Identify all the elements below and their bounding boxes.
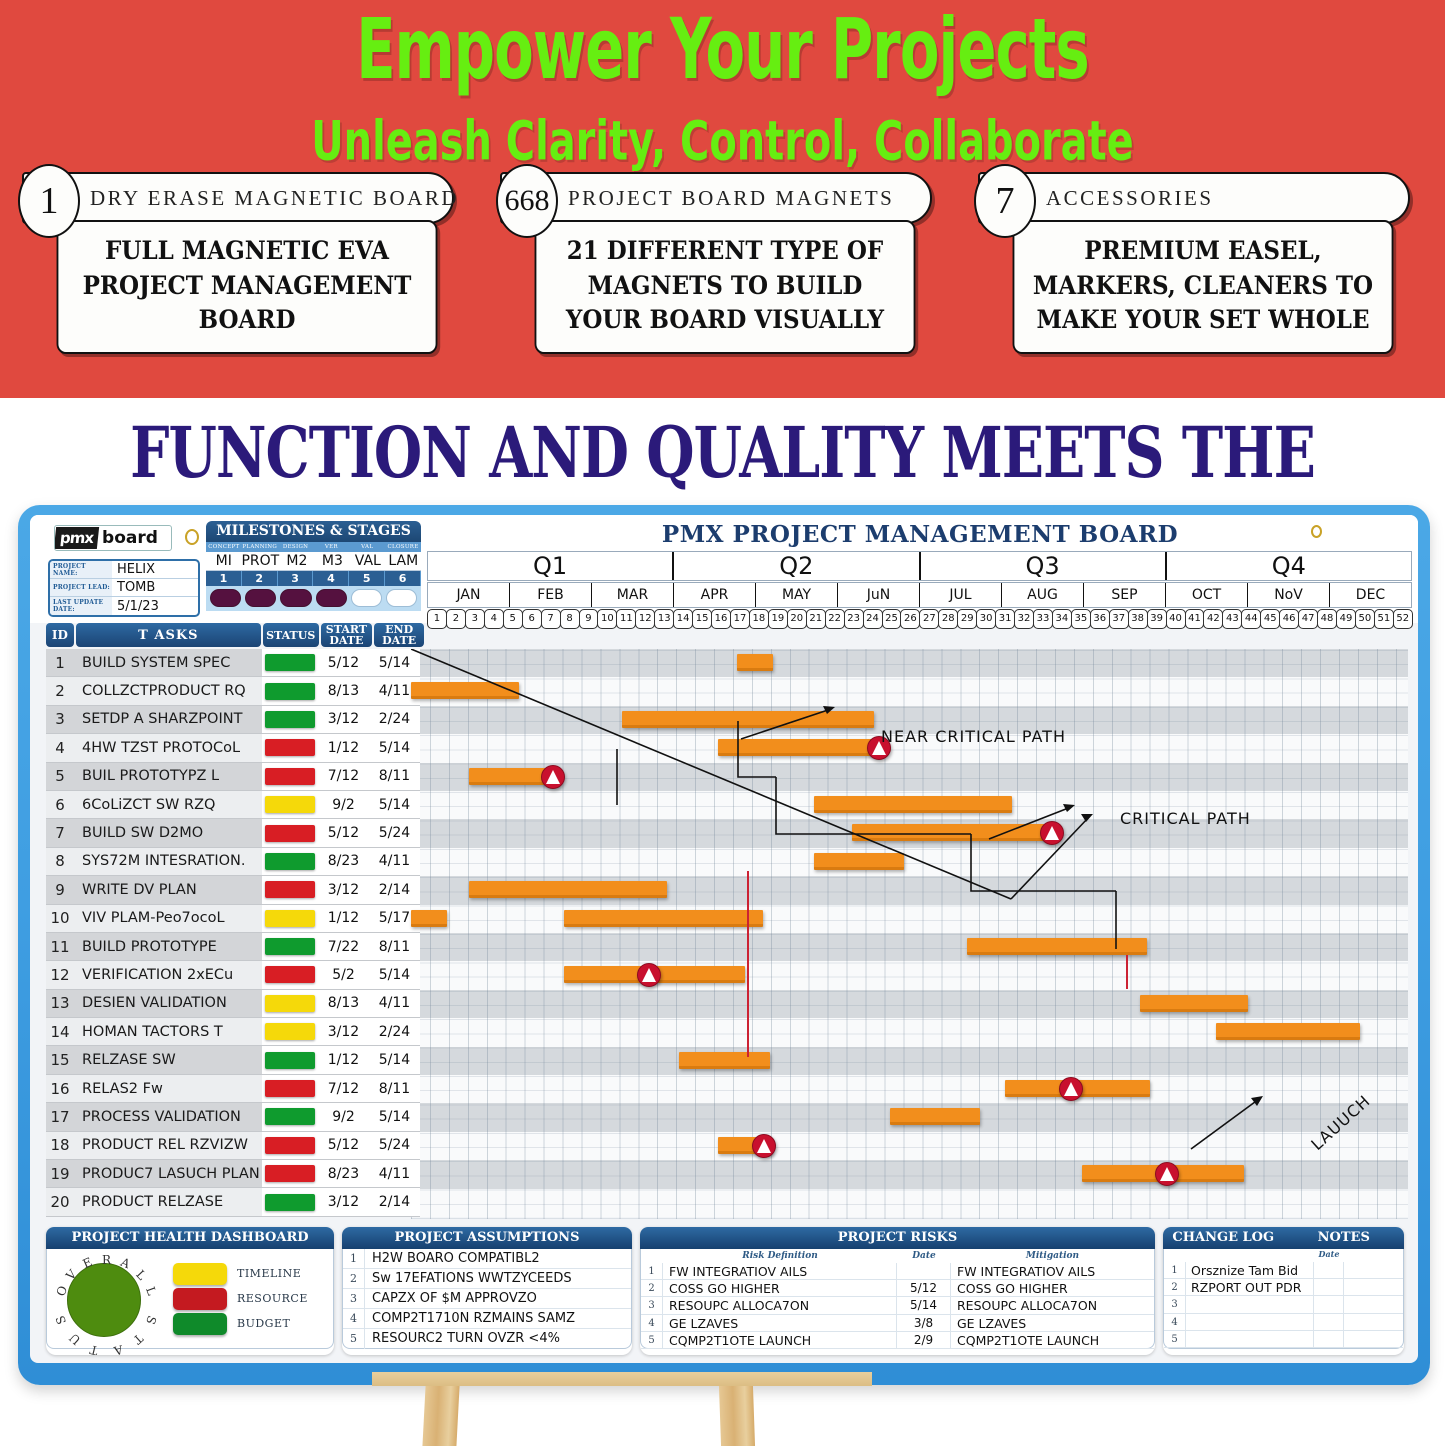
milestone-magnet-5[interactable] bbox=[351, 589, 382, 607]
col-header-id: ID bbox=[46, 623, 74, 647]
assumption-row[interactable]: 3CAPZX OF $M APPROVZO bbox=[343, 1289, 631, 1309]
notes-cell[interactable] bbox=[1344, 1296, 1403, 1312]
row-start-date: 3/12 bbox=[318, 706, 369, 734]
milestone-number-3: 4 bbox=[313, 571, 349, 586]
project-name-row: PROJECT NAME: HELIX bbox=[50, 561, 198, 579]
risk-num: 2 bbox=[641, 1280, 663, 1296]
legend-label: TIMELINE bbox=[227, 1267, 301, 1280]
feature-card-1: 1 DRY ERASE MAGNETIC BOARD FULL MAGNETIC… bbox=[22, 172, 454, 354]
month-cell-APR: APR bbox=[674, 583, 756, 607]
legend-row: RESOURCE bbox=[173, 1288, 333, 1310]
assumption-num: 3 bbox=[343, 1289, 365, 1308]
week-cell-36: 36 bbox=[1090, 609, 1110, 629]
milestone-stage-3: VER bbox=[313, 542, 349, 552]
assumption-row[interactable]: 2Sw 17EFATIONS WWTZYCEEDS bbox=[343, 1269, 631, 1289]
row-id: 9 bbox=[46, 876, 74, 904]
legend-label: RESOURCE bbox=[227, 1292, 308, 1305]
status-chip[interactable] bbox=[265, 995, 315, 1012]
assumptions-body: 1H2W BOARO COMPATIBL22Sw 17EFATIONS WWTZ… bbox=[342, 1249, 632, 1349]
risk-num: 1 bbox=[641, 1263, 663, 1279]
changelog-row[interactable]: 1Orsznize Tam Bid bbox=[1164, 1262, 1403, 1279]
week-cell-4: 4 bbox=[484, 609, 504, 629]
week-header-row: 1234567891011121314151617181920212223242… bbox=[427, 609, 1412, 629]
pmx-board-logo: pmx board bbox=[54, 525, 172, 551]
row-task-name: SETDP A SHARZPOINT bbox=[74, 706, 262, 734]
month-header-row: JANFEBMARAPRMAYJuNJULAUGSEPOCTNoVDEC bbox=[427, 582, 1412, 608]
col-header-start: START DATE bbox=[321, 623, 373, 647]
week-cell-38: 38 bbox=[1128, 609, 1148, 629]
banner-subtitle: Unleash Clarity, Control, Collaborate bbox=[36, 114, 1409, 169]
risk-date bbox=[897, 1263, 951, 1279]
week-cell-33: 33 bbox=[1033, 609, 1053, 629]
status-chip[interactable] bbox=[265, 853, 315, 870]
col-header-end: END DATE bbox=[374, 623, 424, 647]
risks-body: Risk Definition Date Mitigation 1FW INTE… bbox=[640, 1249, 1155, 1349]
changelog-date bbox=[1314, 1314, 1344, 1330]
legend-chip[interactable] bbox=[173, 1263, 227, 1285]
risk-definition: COSS GO HIGHER bbox=[663, 1280, 897, 1296]
row-status[interactable] bbox=[262, 848, 318, 876]
risks-title: PROJECT RISKS bbox=[640, 1227, 1155, 1249]
row-task-name: DESIEN VALIDATION bbox=[74, 990, 262, 1018]
status-chip[interactable] bbox=[265, 796, 315, 813]
row-id: 6 bbox=[46, 791, 74, 819]
week-cell-41: 41 bbox=[1185, 609, 1205, 629]
risk-definition: RESOUPC ALLOCA7ON bbox=[663, 1297, 897, 1313]
banner-title: Empower Your Projects bbox=[51, 8, 1395, 92]
status-chip[interactable] bbox=[265, 966, 315, 983]
risks-num-col bbox=[641, 1249, 663, 1263]
week-cell-2: 2 bbox=[446, 609, 466, 629]
board-title: PMX PROJECT MANAGEMENT BOARD bbox=[430, 521, 1410, 548]
quarter-header-row: Q1Q2Q3Q4 bbox=[427, 551, 1412, 581]
milestone-name-3: M3 bbox=[315, 552, 350, 570]
row-status[interactable] bbox=[262, 1075, 318, 1103]
week-cell-31: 31 bbox=[995, 609, 1015, 629]
project-info-panel: PROJECT NAME: HELIX PROJECT LEAD: TOMB L… bbox=[48, 559, 200, 617]
week-cell-7: 7 bbox=[541, 609, 561, 629]
overall-status-gauge: OVERALL STATUS bbox=[47, 1249, 169, 1349]
status-chip[interactable] bbox=[265, 1165, 315, 1182]
milestone-magnet-1[interactable] bbox=[210, 589, 241, 607]
changelog-date-col: Date bbox=[1314, 1249, 1344, 1262]
row-status[interactable] bbox=[262, 649, 318, 677]
status-chip[interactable] bbox=[265, 1108, 315, 1125]
row-status[interactable] bbox=[262, 876, 318, 904]
week-cell-46: 46 bbox=[1279, 609, 1299, 629]
row-start-date: 5/12 bbox=[318, 819, 369, 847]
assumption-text: H2W BOARO COMPATIBL2 bbox=[365, 1249, 631, 1268]
row-status[interactable] bbox=[262, 819, 318, 847]
arc-letter: T bbox=[89, 1342, 100, 1355]
status-chip[interactable] bbox=[265, 1023, 315, 1040]
project-lead-row: PROJECT LEAD: TOMB bbox=[50, 579, 198, 597]
feature-1-count: 1 bbox=[18, 164, 80, 238]
status-chip[interactable] bbox=[265, 768, 315, 785]
row-task-name: PROCESS VALIDATION bbox=[74, 1103, 262, 1131]
row-task-name: 4HW TZST PROTOCoL bbox=[74, 734, 262, 762]
row-task-name: HOMAN TACTORS T bbox=[74, 1018, 262, 1046]
milestone-number-1: 2 bbox=[242, 571, 278, 586]
row-status[interactable] bbox=[262, 905, 318, 933]
changelog-row[interactable]: 2RZPORT OUT PDR bbox=[1164, 1279, 1403, 1296]
risks-date-col: Date bbox=[897, 1249, 951, 1263]
notes-cell[interactable] bbox=[1344, 1331, 1403, 1347]
week-cell-32: 32 bbox=[1014, 609, 1034, 629]
month-cell-MAR: MAR bbox=[592, 583, 674, 607]
assumption-row[interactable]: 1H2W BOARO COMPATIBL2 bbox=[343, 1249, 631, 1269]
status-chip[interactable] bbox=[265, 683, 315, 700]
month-cell-NoV: NoV bbox=[1248, 583, 1330, 607]
changelog-title: CHANGE LOG NOTES bbox=[1163, 1227, 1404, 1249]
risk-mitigation: FW INTEGRATIOV AILS bbox=[951, 1263, 1154, 1279]
week-cell-17: 17 bbox=[730, 609, 750, 629]
arc-letter: S bbox=[53, 1314, 69, 1327]
risks-definition-col: Risk Definition bbox=[663, 1249, 897, 1263]
arc-letter: L bbox=[143, 1285, 159, 1297]
overall-status-circle[interactable] bbox=[67, 1263, 141, 1337]
last-update-value[interactable]: 5/1/23 bbox=[112, 597, 198, 615]
changelog-text bbox=[1186, 1296, 1314, 1312]
row-start-date: 8/23 bbox=[318, 1160, 369, 1188]
risk-definition: FW INTEGRATIOV AILS bbox=[663, 1263, 897, 1279]
row-id: 13 bbox=[46, 990, 74, 1018]
month-cell-MAY: MAY bbox=[756, 583, 838, 607]
row-start-date: 5/12 bbox=[318, 649, 369, 677]
risk-row[interactable]: 4GE LZAVES3/8GE LZAVES bbox=[641, 1315, 1154, 1332]
arc-letter: U bbox=[66, 1331, 83, 1348]
legend-chip[interactable] bbox=[173, 1313, 227, 1335]
row-status[interactable] bbox=[262, 791, 318, 819]
row-start-date: 3/12 bbox=[318, 1188, 369, 1216]
status-chip[interactable] bbox=[265, 1052, 315, 1069]
week-cell-8: 8 bbox=[560, 609, 580, 629]
row-id: 1 bbox=[46, 649, 74, 677]
easel-leg-left bbox=[422, 1386, 459, 1446]
risk-mitigation: GE LZAVES bbox=[951, 1315, 1154, 1331]
quarter-cell-Q1: Q1 bbox=[428, 552, 674, 580]
row-task-name: VIV PLAM-Peo7ocoL bbox=[74, 905, 262, 933]
row-start-date: 3/12 bbox=[318, 876, 369, 904]
row-start-date: 9/2 bbox=[318, 1103, 369, 1131]
status-chip[interactable] bbox=[265, 938, 315, 955]
changelog-text: Orsznize Tam Bid bbox=[1186, 1262, 1314, 1278]
health-dashboard-title-text: PROJECT HEALTH DASHBOARD bbox=[46, 1230, 334, 1245]
project-board: pmx board PROJECT NAME: HELIX PROJECT LE… bbox=[18, 505, 1430, 1385]
week-cell-29: 29 bbox=[957, 609, 977, 629]
milestone-name-5: LAM bbox=[386, 552, 421, 570]
row-id: 17 bbox=[46, 1103, 74, 1131]
milestone-stage-2: DESIGN bbox=[278, 542, 314, 552]
changelog-date bbox=[1314, 1262, 1344, 1278]
changelog-row[interactable]: 3 bbox=[1164, 1296, 1403, 1313]
row-task-name: SYS72M INTESRATION. bbox=[74, 848, 262, 876]
row-task-name: BUIL PROTOTYPZ L bbox=[74, 763, 262, 791]
row-id: 18 bbox=[46, 1132, 74, 1160]
week-cell-42: 42 bbox=[1203, 609, 1223, 629]
logo-mark: pmx bbox=[54, 527, 99, 549]
risk-row[interactable]: 3RESOUPC ALLOCA7ON5/14RESOUPC ALLOCA7ON bbox=[641, 1297, 1154, 1314]
changelog-body: Date 1Orsznize Tam Bid2RZPORT OUT PDR345 bbox=[1163, 1249, 1404, 1349]
row-task-name: RELZASE SW bbox=[74, 1046, 262, 1074]
week-cell-30: 30 bbox=[976, 609, 996, 629]
week-cell-19: 19 bbox=[768, 609, 788, 629]
notes-title-text: NOTES bbox=[1284, 1230, 1405, 1245]
risk-row[interactable]: 2COSS GO HIGHER5/12COSS GO HIGHER bbox=[641, 1280, 1154, 1297]
row-start-date: 5/2 bbox=[318, 961, 369, 989]
risk-date: 5/14 bbox=[897, 1297, 951, 1313]
row-id: 14 bbox=[46, 1018, 74, 1046]
milestone-magnet-6[interactable] bbox=[386, 589, 417, 607]
changelog-text bbox=[1186, 1314, 1314, 1330]
month-cell-SEP: SEP bbox=[1084, 583, 1166, 607]
arc-letter: R bbox=[102, 1253, 111, 1267]
last-update-row: LAST UPDATE DATE: 5/1/23 bbox=[50, 597, 198, 615]
status-chip[interactable] bbox=[265, 739, 315, 756]
changelog-num: 1 bbox=[1164, 1262, 1186, 1278]
month-cell-OCT: OCT bbox=[1166, 583, 1248, 607]
legend-label: BUDGET bbox=[227, 1317, 290, 1330]
legend-row: BUDGET bbox=[173, 1313, 333, 1335]
row-start-date: 8/13 bbox=[318, 677, 369, 705]
board-surface: pmx board PROJECT NAME: HELIX PROJECT LE… bbox=[30, 515, 1418, 1363]
project-lead-key: PROJECT LEAD: bbox=[50, 579, 112, 596]
milestone-stage-1: PLANNING bbox=[242, 542, 278, 552]
milestone-magnet-row[interactable] bbox=[206, 586, 421, 611]
week-cell-28: 28 bbox=[938, 609, 958, 629]
feature-card-2: 668 PROJECT BOARD MAGNETS 21 DIFFERENT T… bbox=[500, 172, 932, 354]
row-task-name: 6CoLiZCT SW RZQ bbox=[74, 791, 262, 819]
assumption-text: CAPZX OF $M APPROVZO bbox=[365, 1289, 631, 1308]
status-chip[interactable] bbox=[265, 654, 315, 671]
changelog-rows: 1Orsznize Tam Bid2RZPORT OUT PDR345 bbox=[1164, 1262, 1403, 1348]
milestone-number-0: 1 bbox=[206, 571, 242, 586]
row-id: 8 bbox=[46, 848, 74, 876]
milestone-number-4: 5 bbox=[349, 571, 385, 586]
milestones-title: MILESTONES & STAGES bbox=[206, 521, 421, 542]
week-cell-14: 14 bbox=[673, 609, 693, 629]
status-chip[interactable] bbox=[265, 825, 315, 842]
changelog-num: 4 bbox=[1164, 1314, 1186, 1330]
month-cell-JAN: JAN bbox=[428, 583, 510, 607]
week-cell-9: 9 bbox=[579, 609, 599, 629]
notes-cell[interactable] bbox=[1344, 1262, 1403, 1278]
week-cell-26: 26 bbox=[900, 609, 920, 629]
feature-1-body: FULL MAGNETIC EVA PROJECT MANAGEMENT BOA… bbox=[57, 220, 438, 354]
changelog-text bbox=[1186, 1331, 1314, 1347]
health-dashboard-title: PROJECT HEALTH DASHBOARD bbox=[46, 1227, 334, 1249]
row-id: 4 bbox=[46, 734, 74, 762]
month-cell-JUL: JUL bbox=[920, 583, 1002, 607]
status-chip[interactable] bbox=[265, 1137, 315, 1154]
risk-row[interactable]: 5CQMP2T1OTE LAUNCH2/9CQMP2T1OTE LAUNCH bbox=[641, 1332, 1154, 1349]
status-chip[interactable] bbox=[265, 1080, 315, 1097]
milestone-stage-row: CONCEPTPLANNINGDESIGNVERVALCLOSURE bbox=[206, 542, 421, 552]
changelog-row[interactable]: 4 bbox=[1164, 1314, 1403, 1331]
risks-subheader: Risk Definition Date Mitigation bbox=[641, 1249, 1154, 1263]
status-chip[interactable] bbox=[265, 881, 315, 898]
week-cell-3: 3 bbox=[465, 609, 485, 629]
logo-word: board bbox=[98, 528, 158, 548]
quarter-cell-Q2: Q2 bbox=[674, 552, 920, 580]
row-task-name: BUILD SW D2MO bbox=[74, 819, 262, 847]
feature-3-header: 7 ACCESSORIES bbox=[978, 172, 1410, 224]
changelog-row[interactable]: 5 bbox=[1164, 1331, 1403, 1348]
row-status[interactable] bbox=[262, 1132, 318, 1160]
row-task-name: PRODUCT REL RZVIZW bbox=[74, 1132, 262, 1160]
feature-3-label: ACCESSORIES bbox=[1046, 186, 1214, 211]
assumption-text: Sw 17EFATIONS WWTZYCEEDS bbox=[365, 1269, 631, 1288]
risk-num: 4 bbox=[641, 1315, 663, 1331]
row-status[interactable] bbox=[262, 763, 318, 791]
milestone-stage-5: CLOSURE bbox=[385, 542, 421, 552]
project-name-value[interactable]: HELIX bbox=[112, 561, 198, 578]
legend-chip[interactable] bbox=[173, 1288, 227, 1310]
magnet-hole-icon-right bbox=[1311, 525, 1322, 538]
risks-panel: PROJECT RISKS Risk Definition Date Mitig… bbox=[640, 1227, 1155, 1355]
month-cell-AUG: AUG bbox=[1002, 583, 1084, 607]
bottom-panels: PROJECT HEALTH DASHBOARD OVERALL STATUS … bbox=[46, 1227, 1404, 1355]
week-cell-22: 22 bbox=[825, 609, 845, 629]
week-cell-12: 12 bbox=[635, 609, 655, 629]
row-start-date: 7/22 bbox=[318, 933, 369, 961]
arc-letter: S bbox=[143, 1314, 159, 1327]
magnet-hole-icon bbox=[185, 529, 199, 545]
quarter-cell-Q3: Q3 bbox=[921, 552, 1167, 580]
changelog-num-col bbox=[1164, 1249, 1186, 1262]
week-cell-24: 24 bbox=[863, 609, 883, 629]
changelog-subheader: Date bbox=[1164, 1249, 1403, 1262]
week-cell-21: 21 bbox=[806, 609, 826, 629]
feature-1-header: 1 DRY ERASE MAGNETIC BOARD bbox=[22, 172, 454, 224]
row-status[interactable] bbox=[262, 1188, 318, 1216]
row-status[interactable] bbox=[262, 933, 318, 961]
feature-2-label: PROJECT BOARD MAGNETS bbox=[568, 186, 894, 211]
quarter-cell-Q4: Q4 bbox=[1167, 552, 1411, 580]
milestone-name-4: VAL bbox=[350, 552, 385, 570]
milestones-panel: MILESTONES & STAGES CONCEPTPLANNINGDESIG… bbox=[206, 521, 421, 611]
week-cell-45: 45 bbox=[1260, 609, 1280, 629]
status-chip[interactable] bbox=[265, 1194, 315, 1211]
project-lead-value[interactable]: TOMB bbox=[112, 579, 198, 596]
row-start-date: 3/12 bbox=[318, 1018, 369, 1046]
feature-2-header: 668 PROJECT BOARD MAGNETS bbox=[500, 172, 932, 224]
risks-rows: 1FW INTEGRATIOV AILSFW INTEGRATIOV AILS2… bbox=[641, 1263, 1154, 1349]
assumption-num: 5 bbox=[343, 1329, 365, 1349]
row-id: 16 bbox=[46, 1075, 74, 1103]
milestone-magnet-3[interactable] bbox=[280, 589, 311, 607]
milestone-name-0: MI bbox=[206, 552, 241, 570]
milestone-magnet-4[interactable] bbox=[316, 589, 347, 607]
week-cell-6: 6 bbox=[522, 609, 542, 629]
milestone-stage-0: CONCEPT bbox=[206, 542, 242, 552]
milestone-number-5: 6 bbox=[385, 571, 421, 586]
easel-leg-right bbox=[719, 1386, 755, 1446]
assumption-row[interactable]: 4COMP2T1710N RZMAINS SAMZ bbox=[343, 1309, 631, 1329]
week-cell-43: 43 bbox=[1222, 609, 1242, 629]
status-chip[interactable] bbox=[265, 711, 315, 728]
week-cell-44: 44 bbox=[1241, 609, 1261, 629]
notes-cell[interactable] bbox=[1344, 1279, 1403, 1295]
week-cell-47: 47 bbox=[1298, 609, 1318, 629]
row-task-name: RELAS2 Fw bbox=[74, 1075, 262, 1103]
changelog-entry-col bbox=[1186, 1249, 1314, 1262]
notes-cell[interactable] bbox=[1344, 1314, 1403, 1330]
feature-1-label: DRY ERASE MAGNETIC BOARD bbox=[90, 186, 459, 211]
row-start-date: 8/23 bbox=[318, 848, 369, 876]
row-status[interactable] bbox=[262, 677, 318, 705]
risk-date: 2/9 bbox=[897, 1332, 951, 1348]
milestone-magnet-2[interactable] bbox=[245, 589, 276, 607]
risk-num: 3 bbox=[641, 1297, 663, 1313]
row-status[interactable] bbox=[262, 734, 318, 762]
risks-mitigation-col: Mitigation bbox=[951, 1249, 1154, 1263]
risk-definition: GE LZAVES bbox=[663, 1315, 897, 1331]
changelog-num: 2 bbox=[1164, 1279, 1186, 1295]
status-chip[interactable] bbox=[265, 910, 315, 927]
row-task-name: PRODUC7 LASUCH PLAN bbox=[74, 1160, 262, 1188]
row-status[interactable] bbox=[262, 1103, 318, 1131]
row-task-name: BUILD PROTOTYPE bbox=[74, 933, 262, 961]
row-start-date: 7/12 bbox=[318, 763, 369, 791]
changelog-num: 3 bbox=[1164, 1296, 1186, 1312]
row-status[interactable] bbox=[262, 961, 318, 989]
legend-row: TIMELINE bbox=[173, 1263, 333, 1285]
week-cell-5: 5 bbox=[503, 609, 523, 629]
week-cell-15: 15 bbox=[692, 609, 712, 629]
row-status[interactable] bbox=[262, 1018, 318, 1046]
row-id: 7 bbox=[46, 819, 74, 847]
row-id: 3 bbox=[46, 706, 74, 734]
week-cell-1: 1 bbox=[427, 609, 447, 629]
assumption-row[interactable]: 5RESOURC2 TURN OVZR <4% bbox=[343, 1329, 631, 1349]
row-status[interactable] bbox=[262, 990, 318, 1018]
row-id: 15 bbox=[46, 1046, 74, 1074]
changelog-title-text: CHANGE LOG bbox=[1163, 1230, 1284, 1245]
row-status[interactable] bbox=[262, 1160, 318, 1188]
risk-definition: CQMP2T1OTE LAUNCH bbox=[663, 1332, 897, 1348]
row-start-date: 8/13 bbox=[318, 990, 369, 1018]
row-task-name: VERIFICATION 2xECu bbox=[74, 961, 262, 989]
risk-num: 5 bbox=[641, 1332, 663, 1348]
row-status[interactable] bbox=[262, 706, 318, 734]
feature-row: 1 DRY ERASE MAGNETIC BOARD FULL MAGNETIC… bbox=[0, 172, 1445, 372]
week-cell-20: 20 bbox=[787, 609, 807, 629]
week-cell-50: 50 bbox=[1355, 609, 1375, 629]
week-cell-27: 27 bbox=[919, 609, 939, 629]
week-cell-51: 51 bbox=[1374, 609, 1394, 629]
month-cell-DEC: DEC bbox=[1330, 583, 1411, 607]
last-update-key: LAST UPDATE DATE: bbox=[50, 597, 112, 615]
row-id: 11 bbox=[46, 933, 74, 961]
risk-row[interactable]: 1FW INTEGRATIOV AILSFW INTEGRATIOV AILS bbox=[641, 1263, 1154, 1280]
row-id: 12 bbox=[46, 961, 74, 989]
week-cell-35: 35 bbox=[1071, 609, 1091, 629]
week-cell-16: 16 bbox=[711, 609, 731, 629]
week-cell-49: 49 bbox=[1336, 609, 1356, 629]
week-cell-39: 39 bbox=[1147, 609, 1167, 629]
col-header-tasks: T ASKS bbox=[76, 623, 261, 647]
assumptions-panel: PROJECT ASSUMPTIONS 1H2W BOARO COMPATIBL… bbox=[342, 1227, 632, 1355]
health-dashboard-body: OVERALL STATUS TIMELINERESOURCEBUDGET bbox=[46, 1249, 334, 1349]
row-start-date: 9/2 bbox=[318, 791, 369, 819]
changelog-date bbox=[1314, 1296, 1344, 1312]
milestone-number-row: 123456 bbox=[206, 571, 421, 586]
feature-3-count: 7 bbox=[974, 164, 1036, 238]
week-cell-37: 37 bbox=[1109, 609, 1129, 629]
col-header-status: STATUS bbox=[263, 623, 319, 647]
row-status[interactable] bbox=[262, 1046, 318, 1074]
